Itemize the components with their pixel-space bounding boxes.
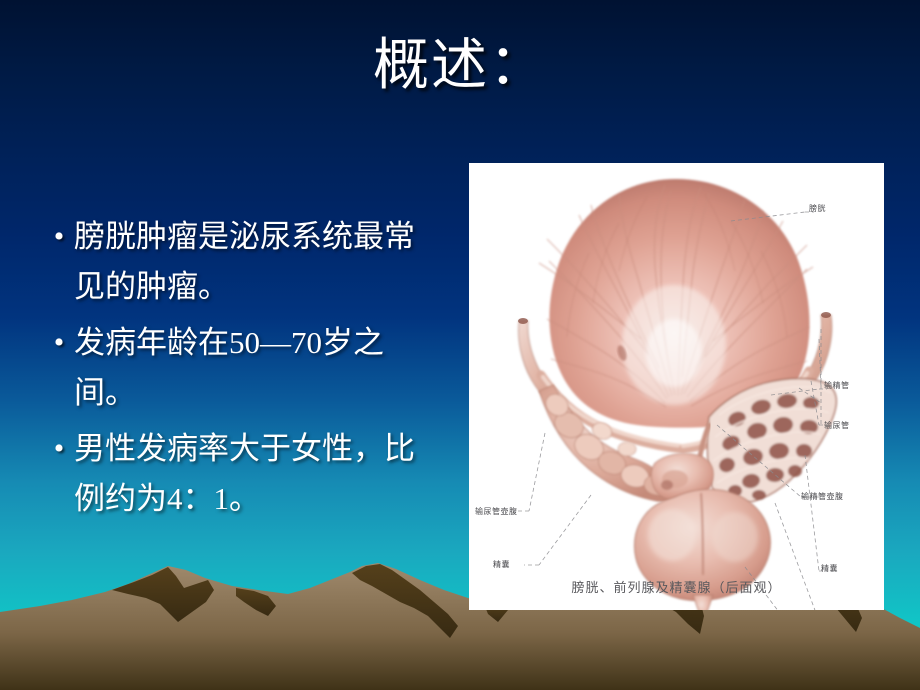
presentation-slide: 概述： • 膀胱肿瘤是泌尿系统最常见的肿瘤。 • 发病年龄在50—70岁之间。 … (0, 0, 920, 690)
anatomy-label-seminal-vesicle-right: 精囊 (821, 563, 838, 574)
list-item: • 膀胱肿瘤是泌尿系统最常见的肿瘤。 (44, 212, 444, 312)
anatomy-label-seminal-vesicle-left: 精囊 (493, 559, 510, 570)
list-item-text: 男性发病率大于女性，比例约为4：1。 (74, 424, 444, 524)
anatomy-label-ureter: 输尿管 (824, 420, 850, 431)
anatomy-figure-panel: 膀胱 输精管 输尿管 输精管壶腹 精囊 射精管 前列腺 输尿管壶腹 精囊 膀胱、… (469, 163, 884, 610)
list-item: • 发病年龄在50—70岁之间。 (44, 318, 444, 418)
list-item: • 男性发病率大于女性，比例约为4：1。 (44, 424, 444, 524)
bullet-marker-icon: • (44, 318, 74, 368)
anatomy-label-ureter-ampulla: 输尿管壶腹 (475, 506, 518, 517)
bullet-marker-icon: • (44, 424, 74, 474)
list-item-text: 发病年龄在50—70岁之间。 (74, 318, 444, 418)
list-item-text: 膀胱肿瘤是泌尿系统最常见的肿瘤。 (74, 212, 444, 312)
figure-caption: 膀胱、前列腺及精囊腺（后面观） (469, 577, 884, 596)
bullet-list: • 膀胱肿瘤是泌尿系统最常见的肿瘤。 • 发病年龄在50—70岁之间。 • 男性… (44, 212, 444, 530)
anatomy-label-vas-ampulla: 输精管壶腹 (801, 491, 844, 502)
anatomy-label-vas-deferens: 输精管 (824, 380, 850, 391)
page-title: 概述： (0, 36, 920, 98)
anatomy-illustration (469, 163, 884, 610)
bullet-marker-icon: • (44, 212, 74, 262)
anatomy-label-bladder: 膀胱 (809, 203, 826, 214)
